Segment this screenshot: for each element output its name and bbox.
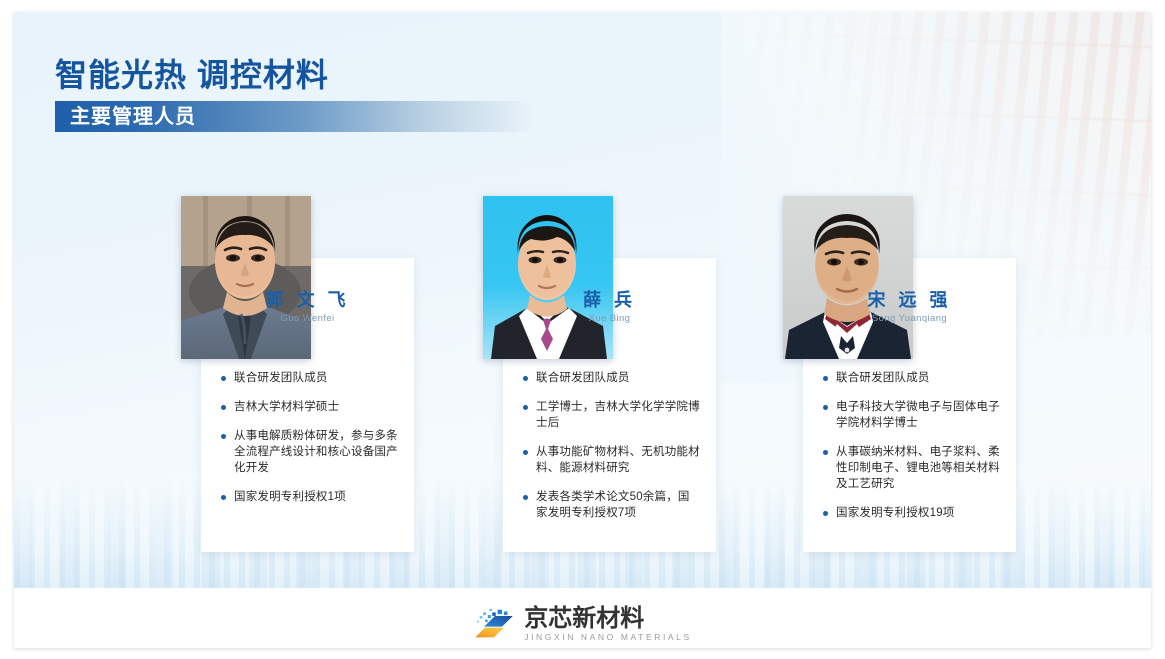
footer: 京芯新材料 JINGXIN NANO MATERIALS	[14, 600, 1151, 648]
list-item: 联合研发团队成员	[821, 370, 1001, 386]
logo-name-en: JINGXIN NANO MATERIALS	[524, 632, 692, 643]
avatar	[483, 196, 613, 359]
avatar	[181, 196, 311, 359]
list-item: 国家发明专利授权1项	[219, 489, 399, 505]
person-card[interactable]: 薛 兵 Xue Bing 联合研发团队成员 工学博士，吉林大学化学学院博士后 从…	[503, 258, 716, 552]
person-name-block: 宋 远 强 Song Yuanqiang	[803, 289, 1016, 325]
person-name-en: Song Yuanqiang	[803, 313, 1016, 325]
portrait-song-yuanqiang-icon	[783, 196, 913, 359]
list-item: 发表各类学术论文50余篇，国家发明专利授权7项	[521, 489, 701, 521]
person-name-cn: 宋 远 强	[803, 289, 1016, 311]
list-item: 电子科技大学微电子与固体电子学院材料学博士	[821, 399, 1001, 431]
person-name-cn: 郭 文 飞	[201, 289, 414, 311]
company-logo: 京芯新材料 JINGXIN NANO MATERIALS	[473, 606, 692, 643]
logo-name-cn: 京芯新材料	[524, 606, 692, 632]
person-name-block: 郭 文 飞 Guo Wenfei	[201, 289, 414, 325]
section-bar: 主要管理人员	[55, 101, 575, 132]
person-bullet-list: 联合研发团队成员 吉林大学材料学硕士 从事电解质粉体研发，参与多条全流程产线设计…	[219, 370, 399, 505]
portrait-guo-wenfei-icon	[181, 196, 311, 359]
slide-canvas: 智能光热 调控材料 主要管理人员	[14, 12, 1151, 648]
list-item: 从事功能矿物材料、无机功能材料、能源材料研究	[521, 444, 701, 476]
person-name-en: Guo Wenfei	[201, 313, 414, 325]
list-item: 工学博士，吉林大学化学学院博士后	[521, 399, 701, 431]
list-item: 联合研发团队成员	[219, 370, 399, 386]
pixel-mosaic-logo-icon	[473, 607, 515, 641]
section-bar-label: 主要管理人员	[70, 105, 196, 129]
slide-page: 智能光热 调控材料 主要管理人员	[0, 0, 1165, 659]
person-name-block: 薛 兵 Xue Bing	[503, 289, 716, 325]
list-item: 从事碳纳米材料、电子浆料、柔性印制电子、锂电池等相关材料及工艺研究	[821, 444, 1001, 492]
person-card[interactable]: 郭 文 飞 Guo Wenfei 联合研发团队成员 吉林大学材料学硕士 从事电解…	[201, 258, 414, 552]
logo-text: 京芯新材料 JINGXIN NANO MATERIALS	[524, 606, 692, 643]
list-item: 从事电解质粉体研发，参与多条全流程产线设计和核心设备国产化开发	[219, 428, 399, 476]
person-name-cn: 薛 兵	[503, 289, 716, 311]
portrait-xue-bing-icon	[483, 196, 613, 359]
title-block: 智能光热 调控材料 主要管理人员	[55, 54, 755, 132]
list-item: 吉林大学材料学硕士	[219, 399, 399, 415]
list-item: 联合研发团队成员	[521, 370, 701, 386]
person-card[interactable]: 宋 远 强 Song Yuanqiang 联合研发团队成员 电子科技大学微电子与…	[803, 258, 1016, 552]
person-bullet-list: 联合研发团队成员 工学博士，吉林大学化学学院博士后 从事功能矿物材料、无机功能材…	[521, 370, 701, 521]
page-title: 智能光热 调控材料	[55, 54, 755, 96]
person-bullet-list: 联合研发团队成员 电子科技大学微电子与固体电子学院材料学博士 从事碳纳米材料、电…	[821, 370, 1001, 521]
avatar	[783, 196, 913, 359]
list-item: 国家发明专利授权19项	[821, 505, 1001, 521]
person-name-en: Xue Bing	[503, 313, 716, 325]
